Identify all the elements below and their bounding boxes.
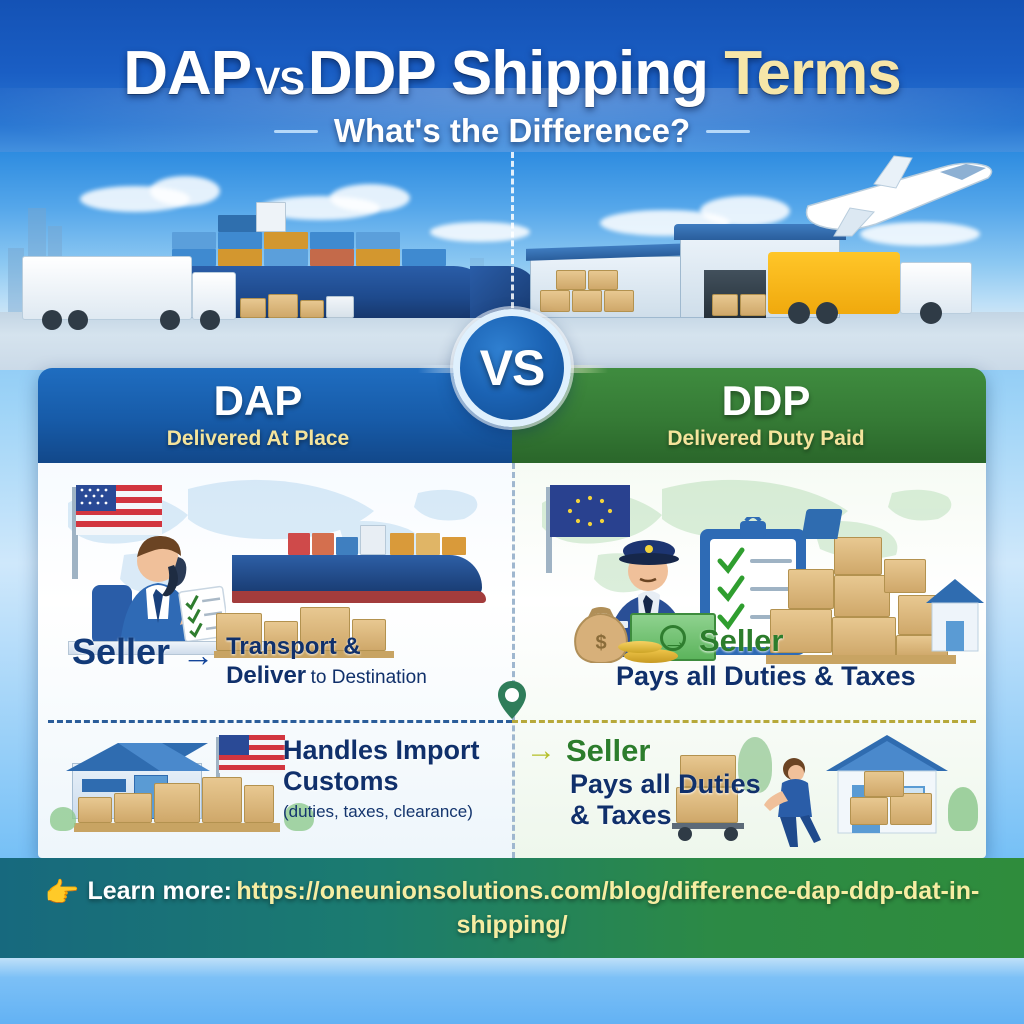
- coin-stack-shape: [618, 641, 662, 653]
- column-header-dap[interactable]: DAP Delivered At Place: [38, 368, 512, 463]
- subtitle-row: What's the Difference?: [0, 112, 1024, 150]
- wheel-shape: [200, 310, 220, 330]
- package-shape: [268, 294, 298, 318]
- container-shape: [336, 537, 358, 555]
- column-dap: Seller → Transport & Deliver to Destinat…: [38, 463, 512, 858]
- wheel-shape: [788, 302, 810, 324]
- arrow-right-icon: →: [182, 639, 214, 671]
- ddp-actor-label: Seller: [699, 623, 783, 659]
- ddp-row1-text: → Seller Pays all Duties & Taxes: [662, 623, 916, 692]
- dap-actor-label: Seller: [72, 631, 170, 673]
- pallet-box-shape: [712, 294, 738, 316]
- pallet-box-shape: [604, 290, 634, 312]
- column-header-ddp[interactable]: DDP Delivered Duty Paid: [512, 368, 986, 463]
- infographic-poster: DAPVSDDP Shipping Terms What's the Diffe…: [0, 0, 1024, 1024]
- ship-waterline-shape: [232, 591, 486, 603]
- package-shape: [154, 783, 200, 823]
- wheel-shape: [42, 310, 62, 330]
- wheel-shape: [160, 310, 180, 330]
- map-pin-icon: [497, 680, 527, 720]
- ddp-row-delivery: → Seller Pays all Duties & Taxes: [512, 723, 986, 858]
- container-shape: [218, 249, 262, 266]
- pointing-hand-icon: 👉: [45, 877, 80, 908]
- horizontal-divider-right: [512, 720, 976, 723]
- footer-bar: 👉Learn more: https://oneunionsolutions.c…: [0, 858, 1024, 958]
- cloud-icon: [330, 184, 410, 212]
- title-ddp-shipping: DDP Shipping: [308, 39, 708, 108]
- arrow-right-icon: →: [526, 736, 556, 766]
- ddp-code: DDP: [722, 380, 811, 423]
- dap-full-name: Delivered At Place: [167, 426, 349, 451]
- us-flag-icon: [219, 735, 285, 773]
- pallet-box-shape: [556, 270, 586, 290]
- dap-row1-line1: Transport &: [226, 633, 427, 662]
- pallet-box-shape: [588, 270, 618, 290]
- package-shape: [850, 797, 888, 825]
- cloud-icon: [700, 196, 790, 226]
- package-shape: [326, 296, 354, 318]
- ddp-row2-actor: Seller: [566, 733, 650, 769]
- wheel-shape: [68, 310, 88, 330]
- page-subtitle: What's the Difference?: [334, 112, 690, 150]
- container-shape: [356, 249, 400, 266]
- airplane-icon: [790, 154, 1010, 244]
- package-shape: [240, 298, 266, 318]
- open-box-lid-shape: [801, 509, 842, 539]
- container-shape: [310, 249, 354, 266]
- container-shape: [288, 533, 310, 555]
- container-shape: [312, 533, 334, 555]
- pallet-box-shape: [740, 294, 766, 316]
- title-terms: Terms: [724, 39, 901, 108]
- subtitle-dash-left: [274, 130, 318, 133]
- dap-row1-line2-rest: to Destination: [311, 667, 427, 688]
- package-shape: [864, 771, 904, 797]
- package-shape: [890, 793, 932, 825]
- ship-bridge-shape: [256, 202, 286, 232]
- wheel-shape: [920, 302, 942, 324]
- warehouse-roof-icon: [62, 739, 212, 771]
- svg-text:$: $: [595, 632, 606, 654]
- page-title: DAPVSDDP Shipping Terms: [0, 38, 1024, 109]
- footer-url-link[interactable]: https://oneunionsolutions.com/blog/diffe…: [236, 877, 979, 939]
- container-shape: [172, 232, 216, 249]
- vs-badge: VS: [453, 309, 571, 427]
- column-ddp: $: [512, 463, 986, 858]
- horizontal-divider-left: [48, 720, 512, 723]
- wheel-shape: [816, 302, 838, 324]
- pallet-box-shape: [572, 290, 602, 312]
- ddp-row-duties: $: [512, 463, 986, 720]
- package-shape: [834, 575, 890, 617]
- package-shape: [114, 793, 152, 823]
- subtitle-dash-right: [706, 130, 750, 133]
- container-shape: [402, 249, 446, 266]
- container-shape: [416, 533, 440, 555]
- dap-row2-line2: Customs: [283, 766, 480, 797]
- ddp-row2-line1: Pays all Duties: [570, 769, 761, 800]
- package-shape: [202, 777, 242, 823]
- vertical-divider: [512, 463, 515, 858]
- vs-badge-label: VS: [480, 339, 545, 397]
- package-shape: [884, 559, 926, 593]
- dap-row-customs: Handles Import Customs (duties, taxes, c…: [38, 723, 512, 858]
- container-shape: [218, 232, 262, 249]
- package-shape: [78, 797, 112, 823]
- cloud-icon: [150, 176, 220, 206]
- container-shape: [264, 232, 308, 249]
- package-shape: [834, 537, 882, 575]
- ddp-row2-text: → Seller Pays all Duties & Taxes: [526, 733, 761, 832]
- dap-row1-text: Seller → Transport & Deliver to Destinat…: [72, 631, 427, 691]
- container-shape: [264, 249, 308, 266]
- dap-code: DAP: [214, 380, 303, 423]
- container-shape: [310, 232, 354, 249]
- dap-row1-line2-bold: Deliver: [226, 662, 306, 689]
- dap-row2-text: Handles Import Customs (duties, taxes, c…: [283, 735, 480, 822]
- title-banner: DAPVSDDP Shipping Terms What's the Diffe…: [0, 0, 1024, 160]
- dap-row2-line1: Handles Import: [283, 735, 480, 766]
- warehouse-sign-shape: [82, 779, 126, 792]
- bush-shape: [50, 807, 76, 831]
- pallet-shape: [74, 823, 280, 832]
- container-shape: [390, 533, 414, 555]
- arrow-right-icon: →: [662, 628, 689, 655]
- ship-bridge-shape: [360, 525, 386, 555]
- bush-shape: [948, 787, 978, 831]
- bottom-strip: [0, 958, 1024, 1024]
- delivery-person-icon: [762, 755, 832, 847]
- footer-content: 👉Learn more: https://oneunionsolutions.c…: [40, 875, 984, 941]
- ddp-full-name: Delivered Duty Paid: [667, 426, 864, 451]
- package-shape: [788, 569, 834, 609]
- package-shape: [244, 785, 274, 823]
- comparison-card: DAP Delivered At Place DDP Delivered Dut…: [38, 368, 986, 858]
- container-shape: [442, 537, 466, 555]
- footer-lead-text: Learn more:: [87, 877, 231, 905]
- dap-row-transport: Seller → Transport & Deliver to Destinat…: [38, 463, 512, 720]
- house-icon: [924, 573, 986, 659]
- title-vs: VS: [251, 61, 308, 103]
- ddp-row2-line2: & Taxes: [570, 800, 761, 831]
- cloud-icon: [430, 222, 530, 242]
- dap-row2-note: (duties, taxes, clearance): [283, 802, 480, 822]
- ddp-row1-line1: Pays all Duties & Taxes: [616, 661, 916, 692]
- title-dap: DAP: [123, 39, 251, 108]
- pallet-box-shape: [540, 290, 570, 312]
- container-shape: [356, 232, 400, 249]
- package-shape: [300, 300, 324, 318]
